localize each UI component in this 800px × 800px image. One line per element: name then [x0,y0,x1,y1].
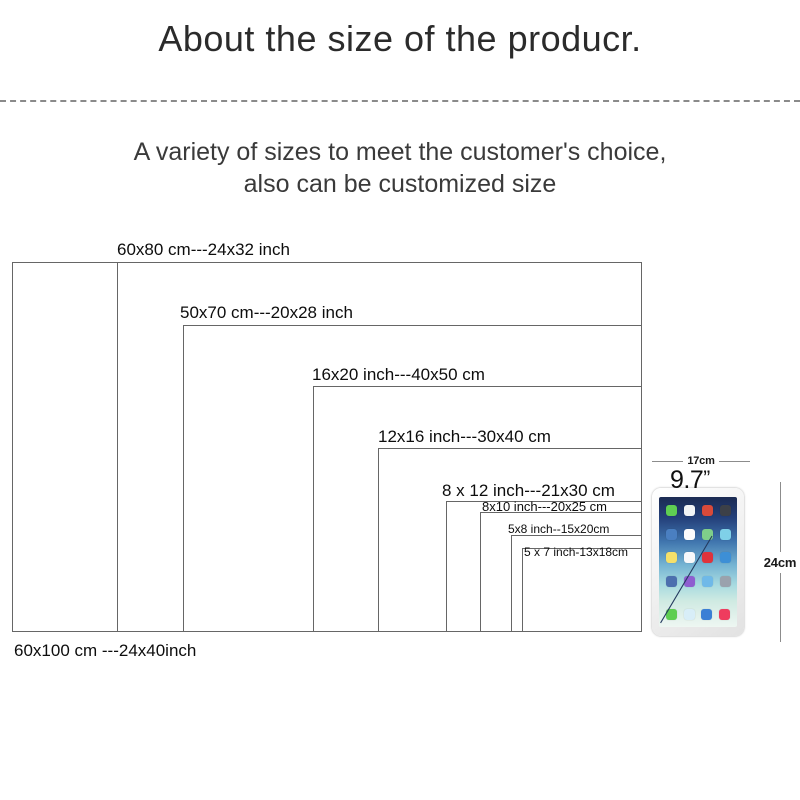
app-icon-9 [684,552,695,563]
app-icon-13 [684,576,695,587]
tablet-device [652,488,744,636]
dock-icon-2 [701,609,712,620]
app-icon-1 [684,505,695,516]
size-label-5: 8x10 inch---20x25 cm [482,500,607,513]
app-icon-10 [702,552,713,563]
app-icon-5 [684,529,695,540]
app-dock [659,606,737,622]
app-icon-grid [659,500,737,592]
tablet-diagonal-unit: ” [703,467,710,490]
size-label-0: 60x80 cm---24x32 inch [117,241,290,258]
app-icon-15 [720,576,731,587]
app-icon-6 [702,529,713,540]
tablet-screen [659,497,737,627]
size-label-2: 16x20 inch---40x50 cm [312,366,485,383]
app-icon-12 [666,576,677,587]
ruler-vbar-top [780,482,781,552]
app-icon-3 [720,505,731,516]
tablet-illustration: 17cm 9.7” 24cm [648,452,800,652]
ruler-bar-right [719,461,750,462]
tablet-height-label: 24cm [764,552,796,573]
app-icon-8 [666,552,677,563]
size-label-3: 12x16 inch---30x40 cm [378,428,551,445]
size-label-1: 50x70 cm---20x28 inch [180,304,353,321]
app-icon-14 [702,576,713,587]
size-label-7: 5 x 7 inch-13x18cm [524,546,628,558]
outer-size-label: 60x100 cm ---24x40inch [14,641,196,661]
size-comparison-diagram: 60x80 cm---24x32 inch50x70 cm---20x28 in… [0,0,800,800]
app-icon-0 [666,505,677,516]
size-label-4: 8 x 12 inch---21x30 cm [442,482,615,499]
ruler-vbar-bottom [780,573,781,643]
app-icon-11 [720,552,731,563]
dock-icon-1 [684,609,695,620]
app-icon-7 [720,529,731,540]
app-icon-2 [702,505,713,516]
app-icon-4 [666,529,677,540]
dock-icon-3 [719,609,730,620]
size-rect-7 [522,548,642,632]
tablet-height-ruler: 24cm [760,482,800,642]
size-label-6: 5x8 inch--15x20cm [508,523,609,535]
ruler-bar-left [652,461,683,462]
dock-icon-0 [666,609,677,620]
